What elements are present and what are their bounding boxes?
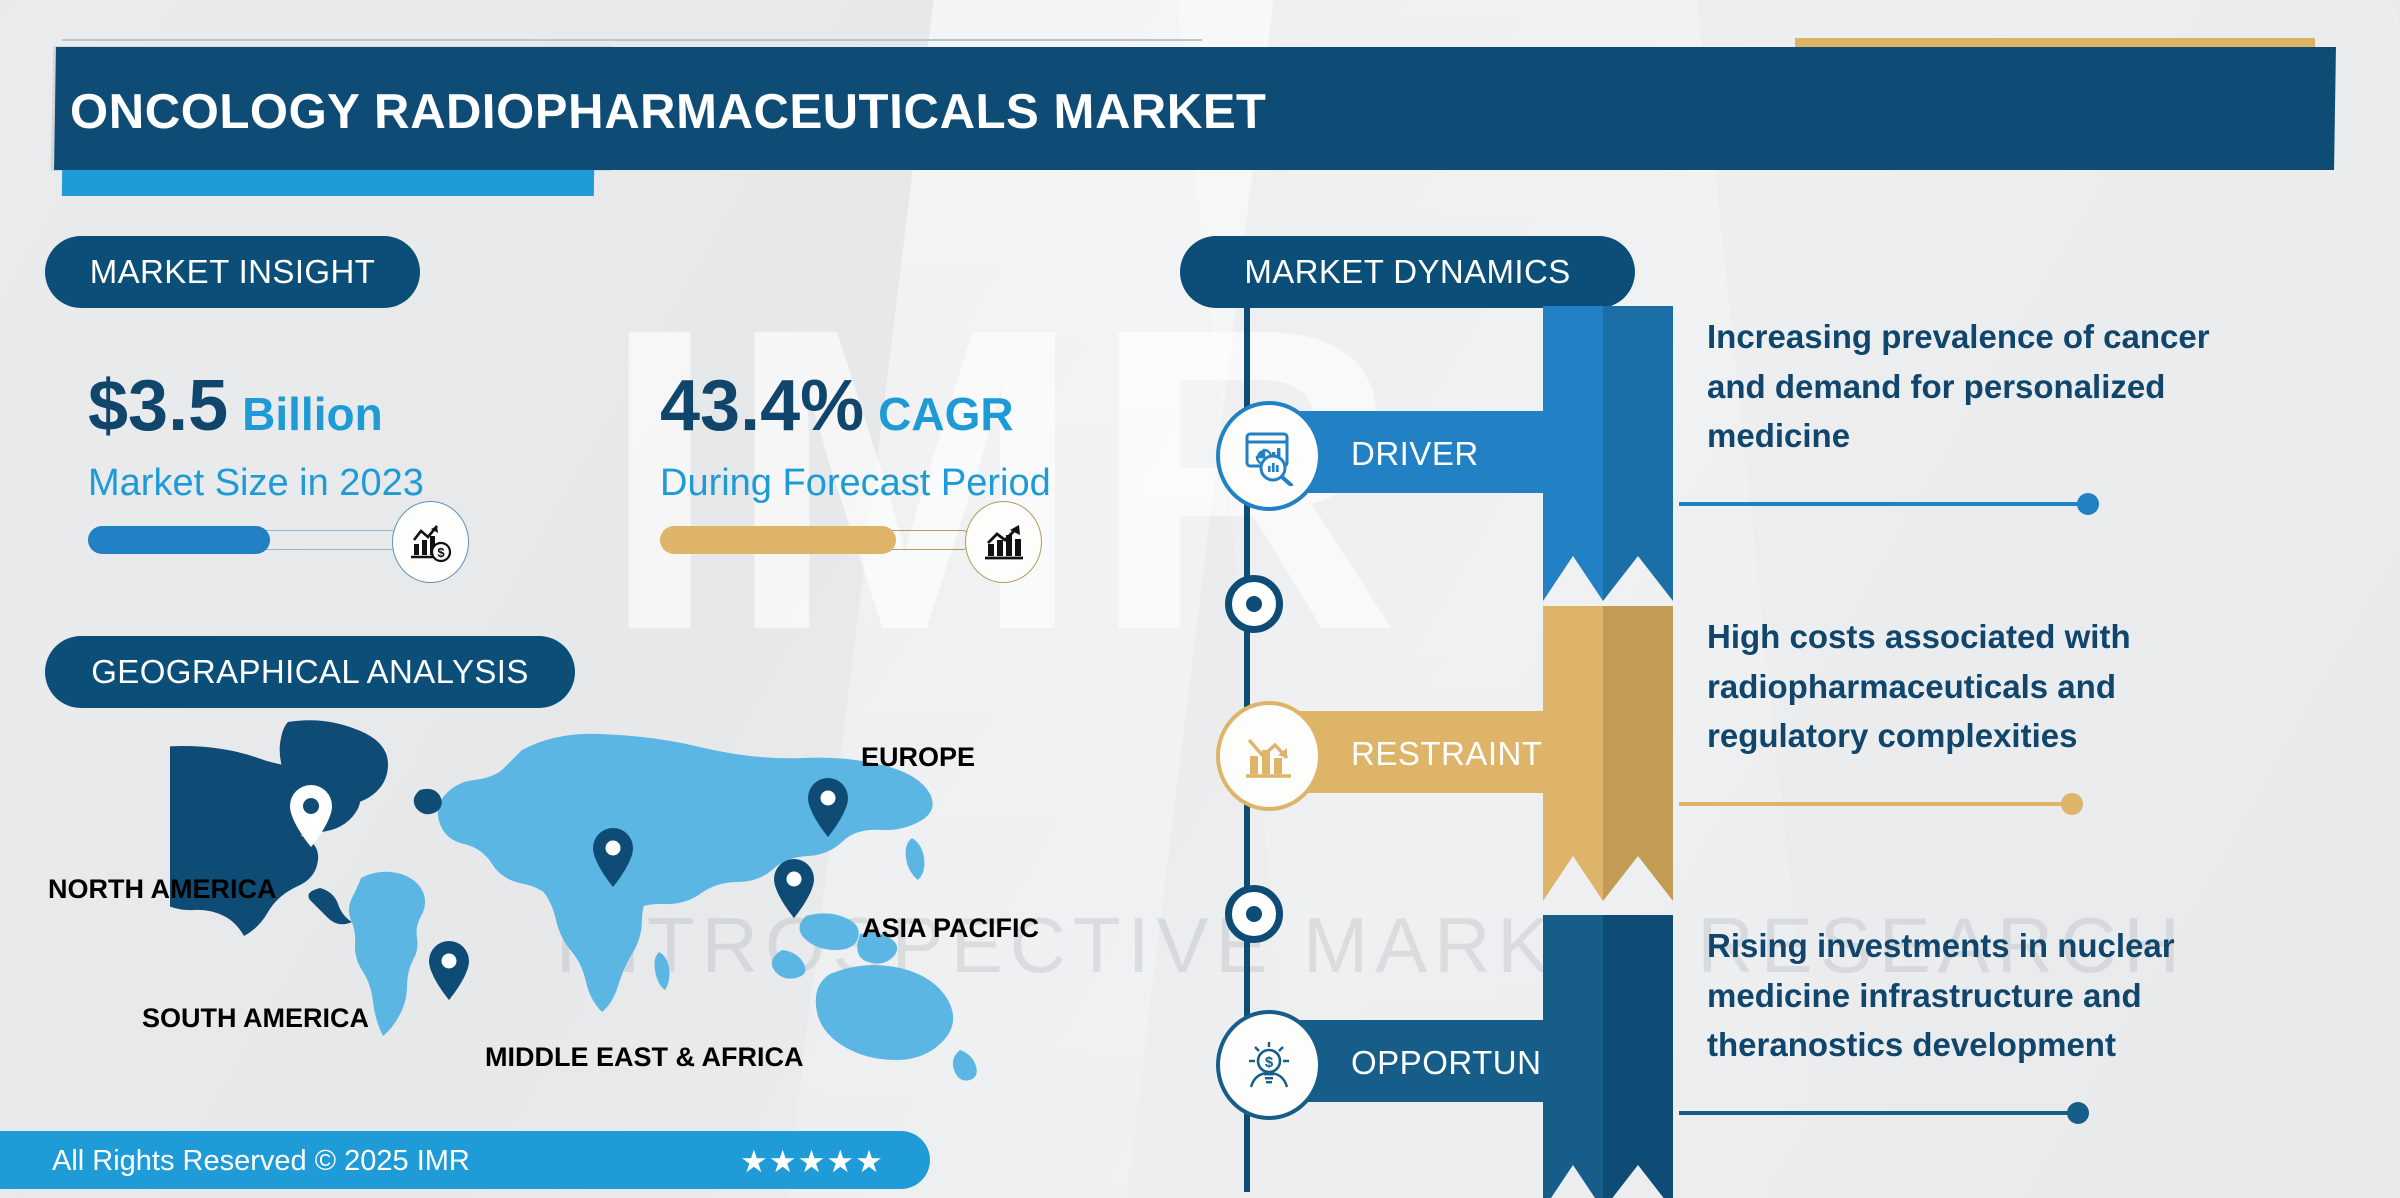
map-label-north-america: NORTH AMERICA — [48, 874, 277, 905]
svg-text:$: $ — [1265, 1054, 1274, 1071]
driver-leader-dot — [2077, 493, 2099, 515]
header-hairline — [62, 39, 1202, 41]
infographic-canvas: IMR INTROSPECTIVE MARKET RESEARCH ONCOLO… — [0, 0, 2400, 1198]
stat-cagr-value: 43.4% — [660, 370, 864, 442]
map-label-europe: EUROPE — [861, 742, 975, 773]
rating-stars: ★★★★★ — [740, 1144, 884, 1180]
stat-market-size-value: $3.5 — [88, 370, 228, 442]
stat-cagr-caption: During Forecast Period — [660, 462, 1051, 505]
restraint-chevron — [1543, 606, 1673, 901]
progress-track-market-size — [88, 530, 400, 550]
opportunity-leader-dot — [2067, 1102, 2089, 1124]
stat-cagr-unit: CAGR — [878, 387, 1013, 441]
stat-market-size: $3.5Billion Market Size in 2023 — [88, 370, 424, 505]
dashboard-magnifier-icon — [1216, 401, 1322, 511]
timeline-node-1 — [1225, 575, 1283, 633]
progress-track-cagr — [660, 530, 972, 550]
section-label-market-insight: MARKET INSIGHT — [45, 236, 420, 308]
progress-fill-market-size — [88, 526, 270, 554]
timeline-node-2 — [1225, 885, 1283, 943]
copyright-text: All Rights Reserved © 2025 IMR — [52, 1145, 470, 1178]
stat-market-size-unit: Billion — [242, 387, 383, 441]
footer-bar: All Rights Reserved © 2025 IMR ★★★★★ — [0, 1131, 930, 1189]
restraint-leader-dot — [2061, 793, 2083, 815]
page-title: ONCOLOGY RADIOPHARMACEUTICALS MARKET — [70, 84, 1268, 140]
driver-leader-line — [1679, 502, 2087, 506]
stat-cagr: 43.4%CAGR During Forecast Period — [660, 370, 1051, 505]
driver-chevron — [1543, 306, 1673, 601]
stat-market-size-caption: Market Size in 2023 — [88, 462, 424, 505]
svg-text:$: $ — [437, 545, 445, 560]
restraint-description: High costs associated with radiopharmace… — [1707, 612, 2267, 761]
lightbulb-dollar-icon: $ — [1216, 1010, 1322, 1120]
header-underbar — [62, 170, 594, 196]
bar-chart-dollar-icon: $ — [392, 501, 469, 583]
opportunity-leader-line — [1679, 1111, 2077, 1115]
opportunity-description: Rising investments in nuclear medicine i… — [1707, 921, 2267, 1070]
map-label-asia-pacific: ASIA PACIFIC — [862, 913, 1039, 944]
section-label-geographical-analysis: GEOGRAPHICAL ANALYSIS — [45, 636, 575, 708]
map-label-south-america: SOUTH AMERICA — [142, 1003, 369, 1034]
map-label-middle-east-africa: MIDDLE EAST & AFRICA — [485, 1042, 804, 1073]
progress-fill-cagr — [660, 526, 896, 554]
world-map — [170, 720, 1030, 1090]
declining-bar-chart-icon — [1216, 701, 1322, 811]
growth-chart-arrow-icon — [965, 501, 1042, 583]
opportunity-chevron — [1543, 915, 1673, 1198]
driver-description: Increasing prevalence of cancer and dema… — [1707, 312, 2267, 461]
driver-label: DRIVER — [1351, 435, 1479, 473]
restraint-label: RESTRAINT — [1351, 735, 1543, 773]
section-label-market-dynamics: MARKET DYNAMICS — [1180, 236, 1635, 308]
restraint-leader-line — [1679, 802, 2071, 806]
